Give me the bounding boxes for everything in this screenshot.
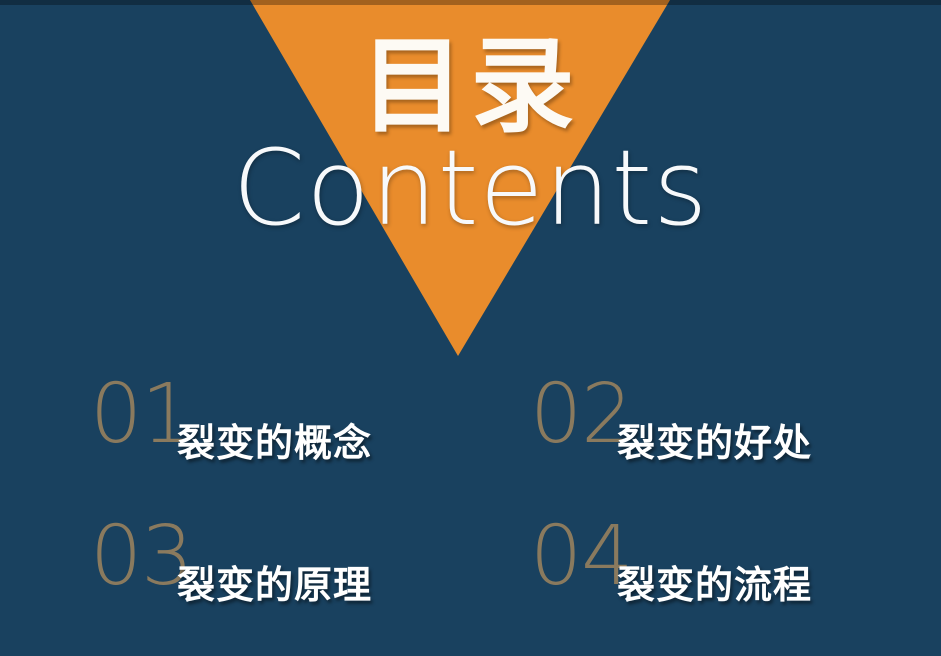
list-item[interactable]: 01 裂变的概念	[62, 372, 502, 514]
item-label-04: 裂变的流程	[617, 566, 812, 604]
contents-slide: 目录 Contents 01 裂变的概念 02 裂变的好处 03 裂变的原理 0…	[0, 0, 941, 656]
item-label-01: 裂变的概念	[177, 424, 372, 462]
contents-list: 01 裂变的概念 02 裂变的好处 03 裂变的原理 04 裂变的流程	[0, 372, 941, 656]
item-label-03: 裂变的原理	[177, 566, 372, 604]
item-label-02: 裂变的好处	[617, 424, 812, 462]
list-item[interactable]: 02 裂变的好处	[502, 372, 941, 514]
list-item[interactable]: 03 裂变的原理	[62, 514, 502, 656]
list-item[interactable]: 04 裂变的流程	[502, 514, 941, 656]
